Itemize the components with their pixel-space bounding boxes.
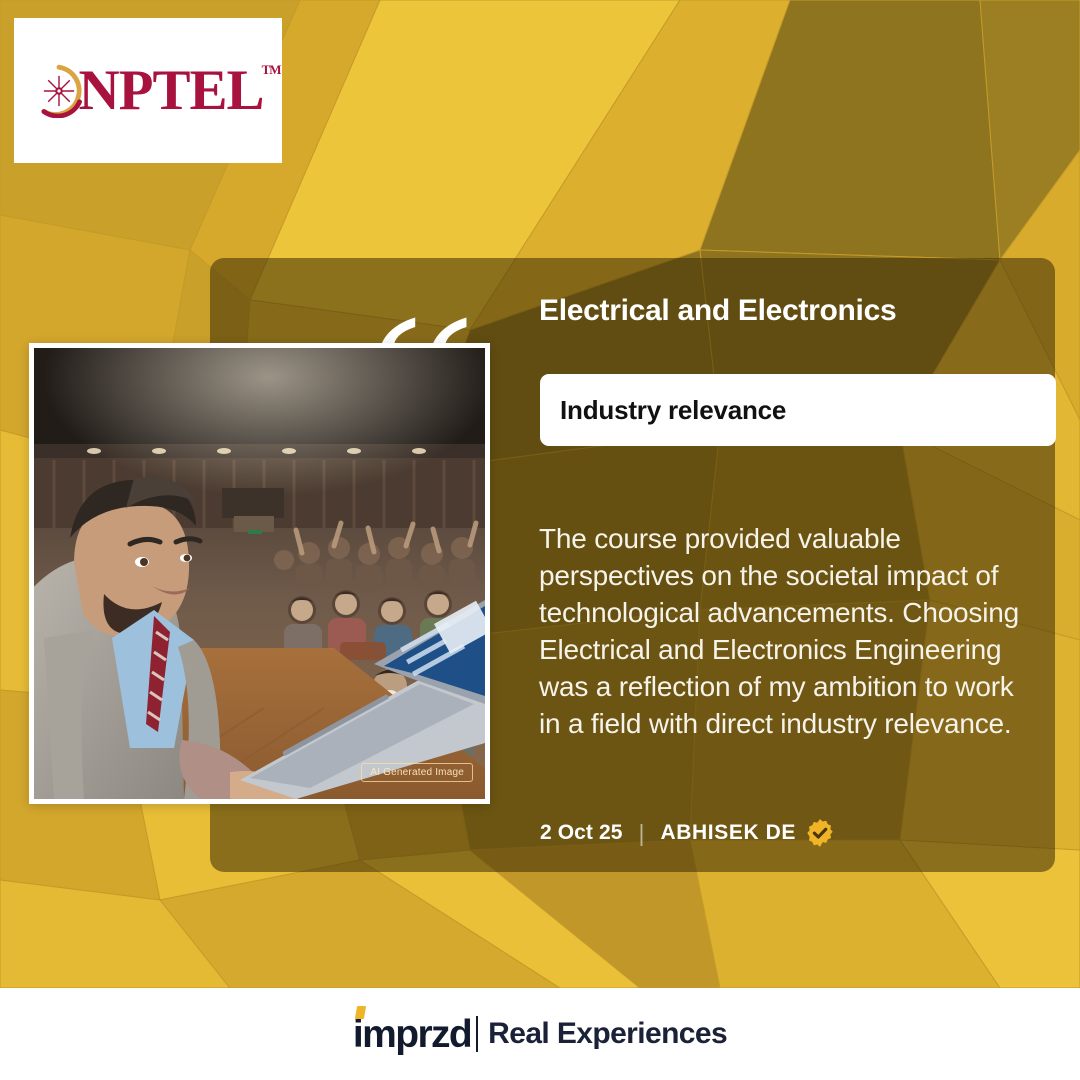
nptel-trademark-mark: TM — [262, 63, 281, 76]
nptel-wordmark-text: NPTEL — [78, 59, 263, 122]
reviewer-name: ABHISEK DE — [661, 821, 797, 845]
footer-bar: imprzd Real Experiences — [0, 988, 1080, 1080]
attribution-separator: | — [639, 820, 645, 847]
testimonial-date: 2 Oct 25 — [540, 821, 623, 845]
imprzd-wordmark: imprzd — [353, 1015, 471, 1054]
poster-canvas: NPTEL TM “ — [0, 0, 1080, 1080]
imprzd-wordmark-text: imprzd — [353, 1013, 471, 1056]
topic-box: Industry relevance — [540, 374, 1056, 446]
topic-label: Industry relevance — [540, 395, 786, 426]
attribution-line: 2 Oct 25 | ABHISEK DE — [540, 818, 835, 848]
imprzd-logo: imprzd Real Experiences — [353, 1015, 727, 1054]
footer-tagline: Real Experiences — [488, 1019, 727, 1049]
nptel-logo-plate: NPTEL TM — [14, 18, 282, 163]
footer-divider — [476, 1016, 478, 1052]
ai-generated-watermark: AI Generated Image — [361, 763, 473, 782]
photo-illustration — [34, 348, 485, 799]
testimonial-photo-frame: AI Generated Image — [29, 343, 490, 804]
testimonial-text: The course provided valuable perspective… — [539, 521, 1027, 743]
testimonial-photo: AI Generated Image — [34, 348, 485, 799]
verified-badge-icon — [805, 818, 835, 848]
course-heading: Electrical and Electronics — [539, 294, 1039, 328]
nptel-wordmark: NPTEL TM — [78, 62, 263, 119]
